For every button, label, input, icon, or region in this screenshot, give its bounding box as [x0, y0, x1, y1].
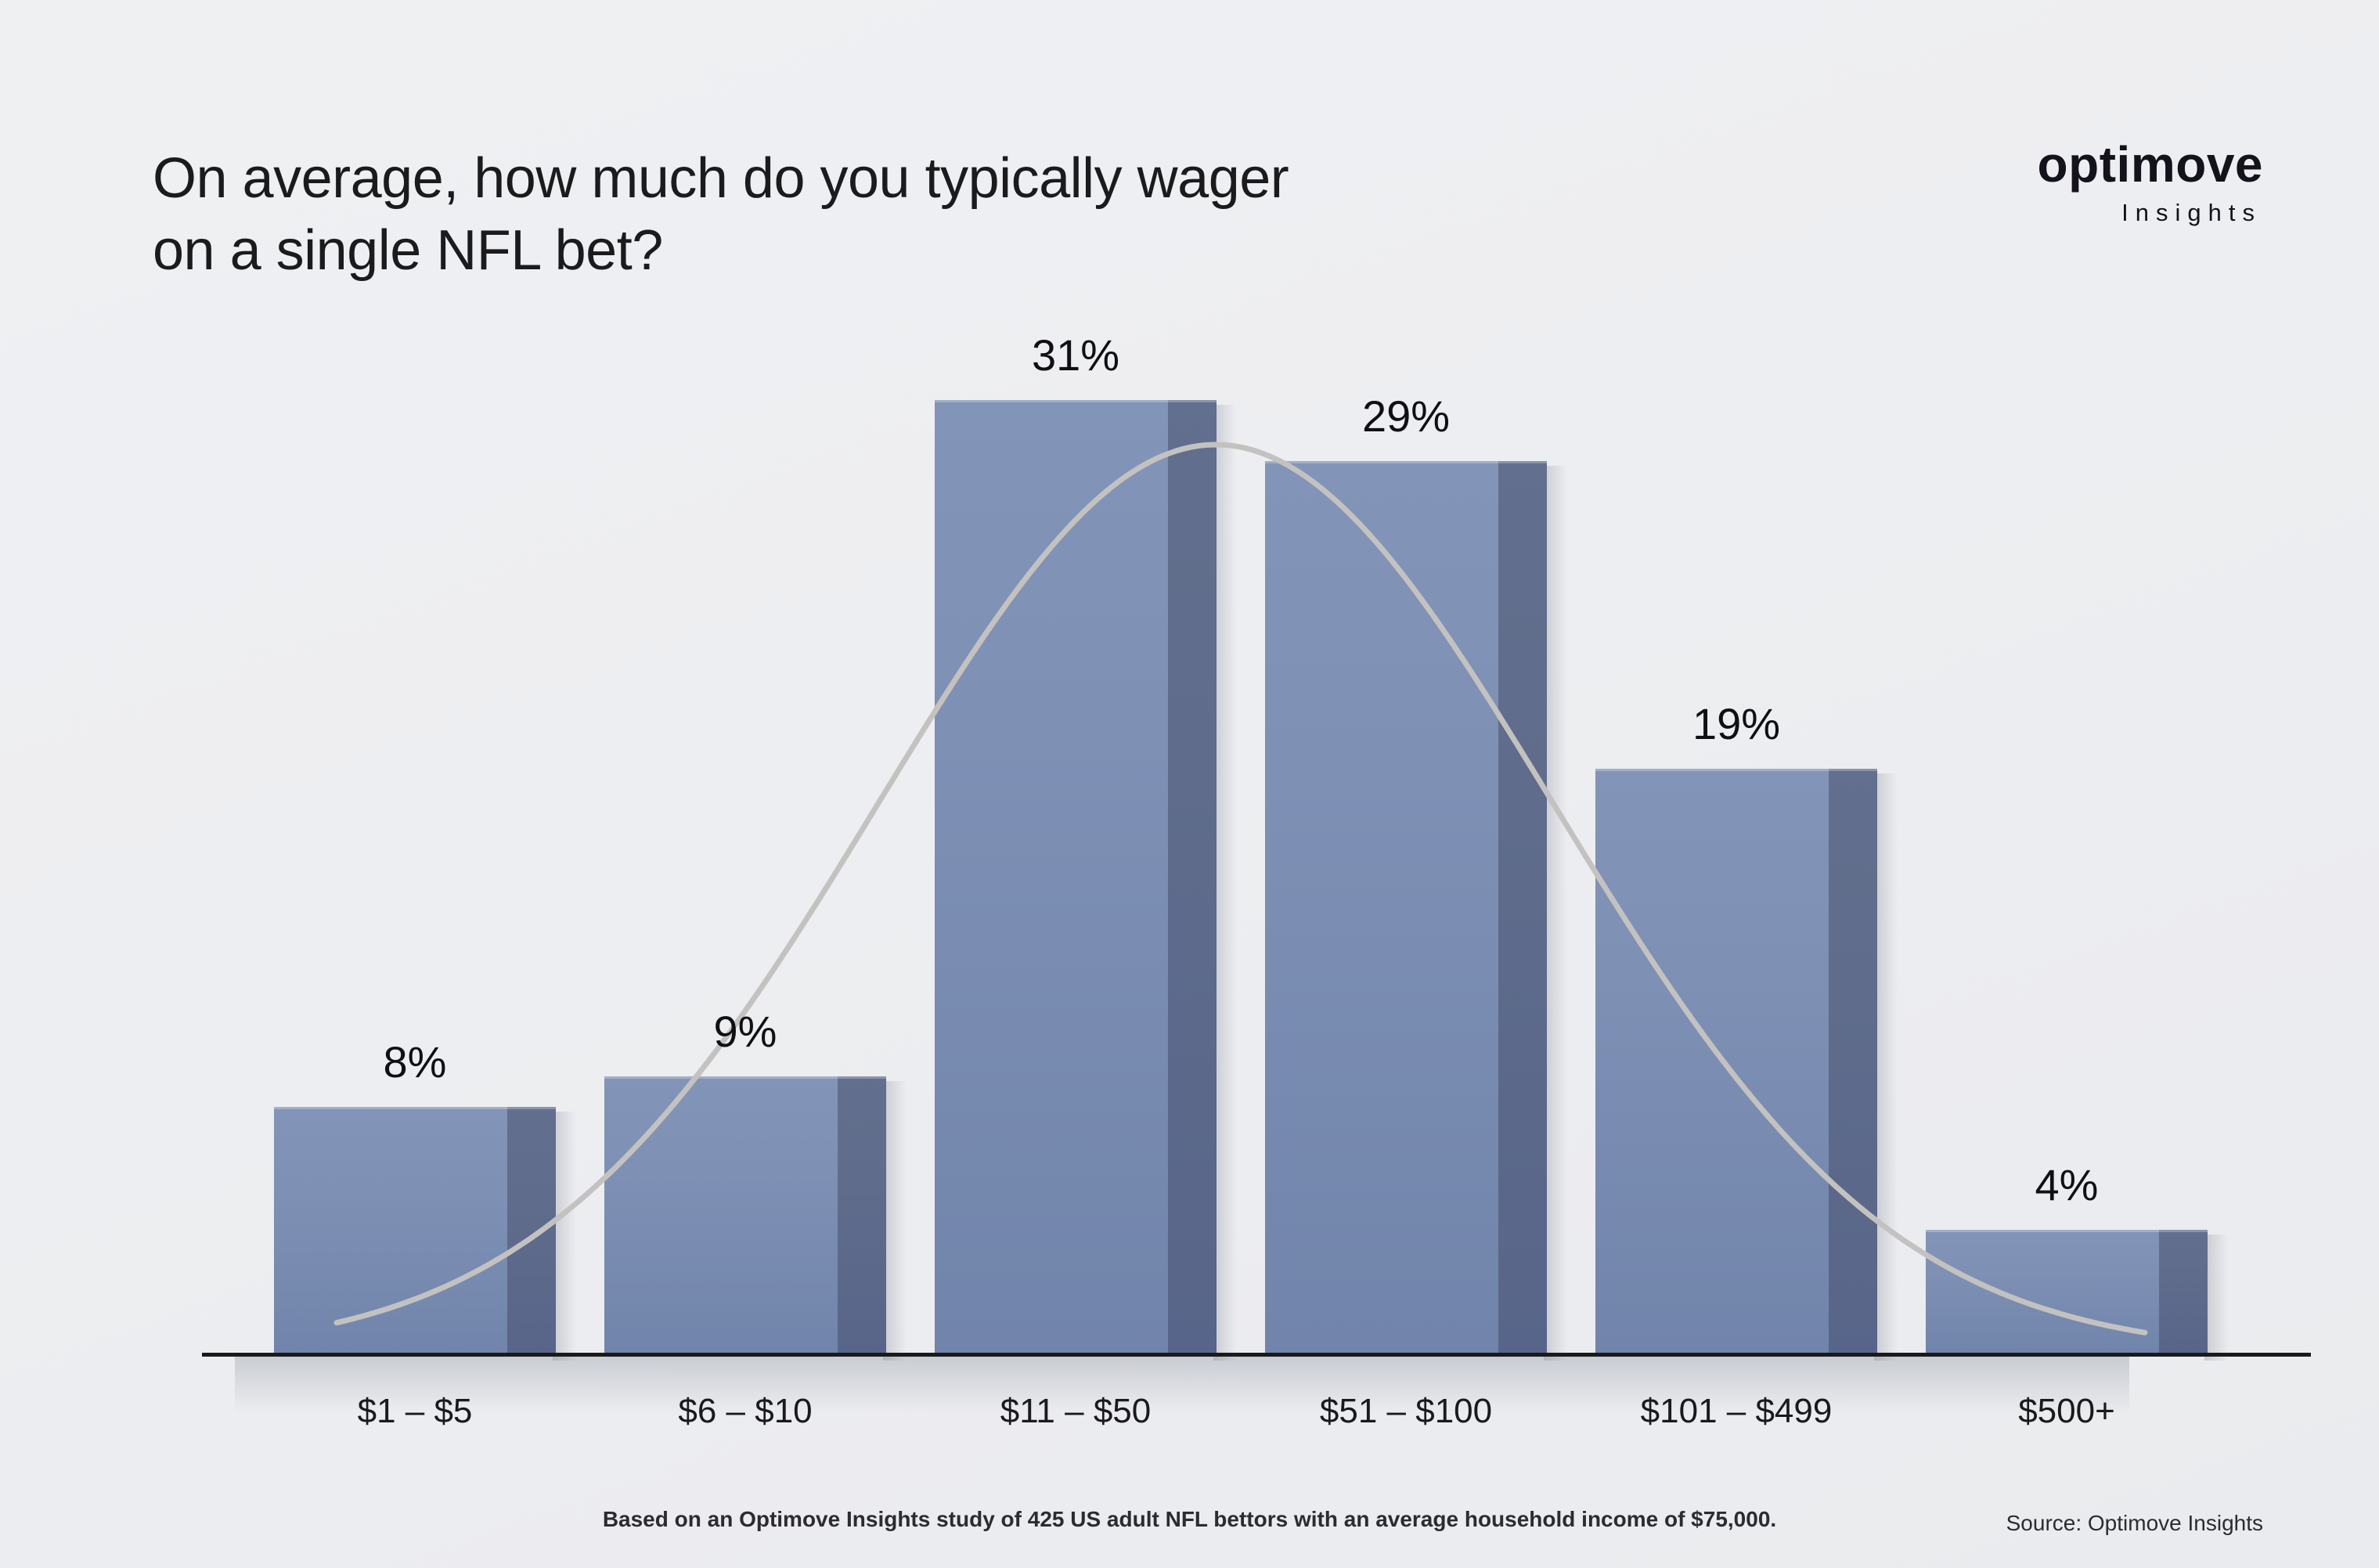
bar-side-face [1498, 461, 1547, 1353]
bar-front-face [1595, 769, 1829, 1353]
bar-front-face [274, 1107, 507, 1353]
bar-front-face [1926, 1230, 2159, 1353]
x-axis-category-label: $11 – $50 [888, 1392, 1263, 1431]
bar-top-highlight [1595, 769, 1877, 771]
bar-chart: 8%9%31%29%19%4% $1 – $5$6 – $10$11 – $50… [0, 0, 2379, 1568]
bar-side-face [1168, 400, 1217, 1353]
bar-top-highlight [935, 400, 1217, 402]
bar-drop-shadow [553, 1112, 576, 1361]
bar-value-label: 31% [935, 330, 1217, 380]
bar-top-highlight [1926, 1230, 2208, 1232]
chart-page: On average, how much do you typically wa… [0, 0, 2379, 1568]
bar [1265, 461, 1547, 1353]
bar-top-highlight [1265, 461, 1547, 463]
bar-value-label: 8% [274, 1036, 556, 1087]
bar-drop-shadow [1213, 405, 1237, 1361]
bar [274, 1107, 556, 1353]
bar-value-label: 29% [1265, 391, 1547, 442]
x-axis-line [202, 1353, 2311, 1357]
bar-front-face [935, 400, 1168, 1353]
bar-drop-shadow [2204, 1235, 2228, 1361]
bar [935, 400, 1217, 1353]
bar-value-label: 9% [604, 1006, 886, 1057]
bar-drop-shadow [1544, 466, 1567, 1361]
bar-top-highlight [604, 1076, 886, 1079]
bar [1595, 769, 1877, 1353]
bar-top-highlight [274, 1107, 556, 1109]
bar [1926, 1230, 2208, 1353]
bar-side-face [507, 1107, 556, 1353]
bar-side-face [1829, 769, 1877, 1353]
bar [604, 1076, 886, 1353]
bar-front-face [1265, 461, 1498, 1353]
x-axis-category-label: $101 – $499 [1548, 1392, 1924, 1431]
bar-side-face [2159, 1230, 2208, 1353]
bar-side-face [838, 1076, 886, 1353]
bar-value-label: 19% [1595, 698, 1877, 749]
x-axis-category-label: $500+ [1879, 1392, 2255, 1431]
bar-drop-shadow [1874, 773, 1898, 1361]
source-text: Source: Optimove Insights [2006, 1511, 2263, 1536]
bar-front-face [604, 1076, 838, 1353]
bar-value-label: 4% [1926, 1159, 2208, 1210]
x-axis-category-label: $51 – $100 [1218, 1392, 1594, 1431]
bar-drop-shadow [883, 1081, 907, 1361]
x-axis-category-label: $6 – $10 [557, 1392, 933, 1431]
x-axis-category-label: $1 – $5 [227, 1392, 603, 1431]
